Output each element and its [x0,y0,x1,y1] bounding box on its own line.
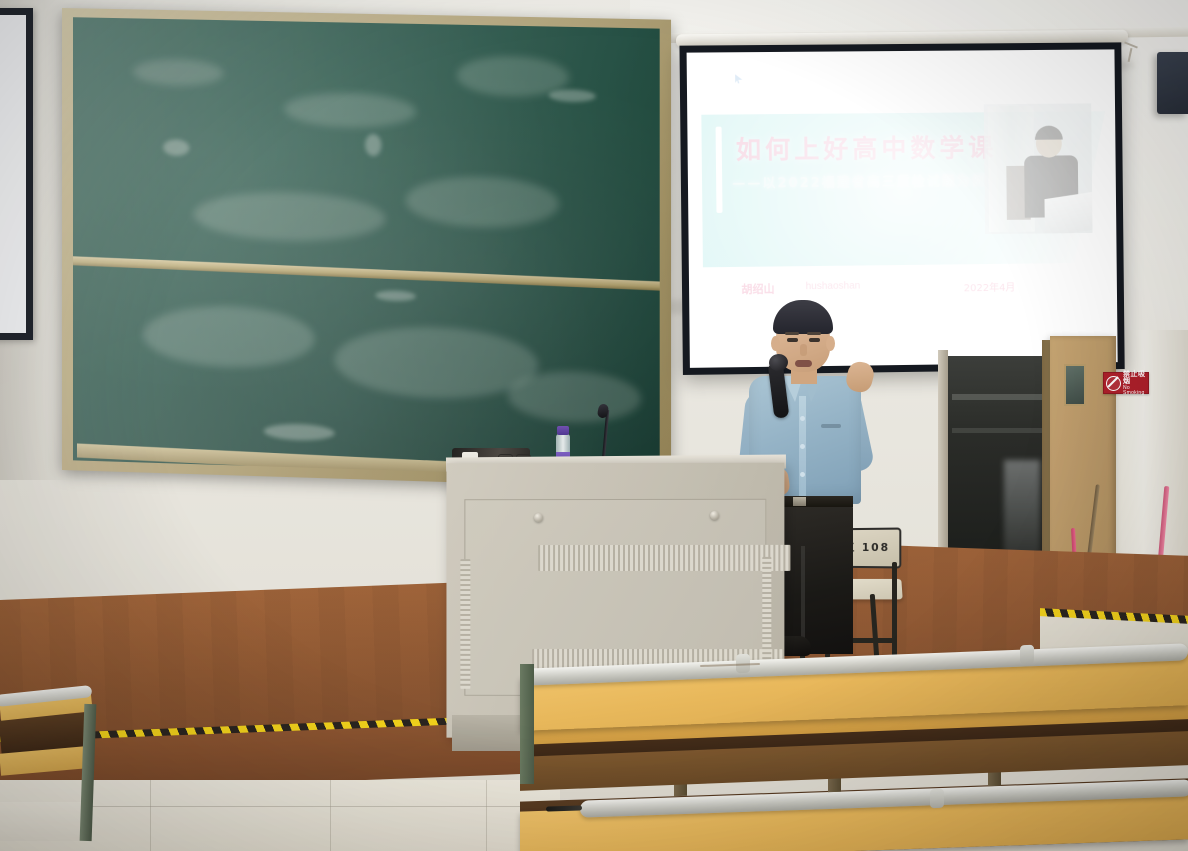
slide-subtitle: ——以2022福建省高三质检试题为例 [732,170,987,192]
desk-tube-clamp [1020,645,1034,665]
foreground-wall [0,802,88,841]
no-smoking-sign: 禁止吸烟 No Smoking [1103,372,1149,394]
presenter-shirt-button [800,416,805,421]
presenter-shirt-button [800,444,805,449]
presenter-eye [787,338,798,342]
slide-presenter-photo [984,103,1093,234]
photo-person-hair [1035,126,1063,140]
chalk-smudge [163,139,189,156]
presenter-ear [771,336,780,351]
no-smoking-label-cn: 禁止吸烟 [1123,371,1148,385]
slide-presenter-name: 胡绍山 [741,281,774,297]
presenter-hair [773,300,833,334]
slide-date: 2022年4月 [964,279,1016,295]
chalkboard-surface [73,17,660,478]
presenter-eye [809,338,820,342]
no-smoking-icon [1106,376,1121,391]
presenter-shirt-pocket [821,424,841,428]
presenter-eyebrow [807,332,821,335]
podium-vent [538,545,790,571]
presenter-eyebrow [785,332,799,335]
podium-side-vent [460,559,470,689]
photo-desk [1044,191,1092,234]
presenter-ear [826,336,835,351]
desk-tube-clamp [930,789,944,808]
desk-side-frame [520,664,534,784]
chalk-smudge [365,134,381,157]
corridor-rail [952,394,1044,400]
no-smoking-text: 禁止吸烟 No Smoking [1121,371,1148,396]
presenter-shirt-button [800,472,805,477]
podium-lock[interactable] [710,511,719,520]
door-window [1064,364,1086,406]
slide-footer: 胡绍山 hushaoshan 2022年4月 [741,277,1097,299]
tile-seam [330,780,331,851]
wall-hook-icon [1124,44,1140,62]
slide-title: 如何上好高中数学课 [736,128,998,166]
chair-leg [892,562,897,658]
slide-accent-bar [716,127,723,213]
presenter-nose [800,344,807,356]
slide-presenter-pinyin: hushaoshan [806,281,861,293]
lecture-hall-photo: 如何上好高中数学课 ——以2022福建省高三质检试题为例 胡绍山 hushaos… [0,0,1188,851]
secondary-projection-screen [0,8,33,340]
wall-speaker [1157,52,1188,114]
podium-lock[interactable] [534,513,543,522]
presenter-mouth [795,360,812,367]
chalkboard [62,8,671,489]
water-bottle-cap[interactable] [557,426,569,435]
foreground-desk-left[interactable] [0,690,96,851]
mouse-cursor-icon [735,74,742,83]
no-smoking-label-en: No Smoking [1123,386,1148,396]
tile-seam [150,780,151,851]
tile-seam [486,780,487,851]
presenter-belt-buckle [793,497,806,506]
corridor-rail [952,428,1044,433]
